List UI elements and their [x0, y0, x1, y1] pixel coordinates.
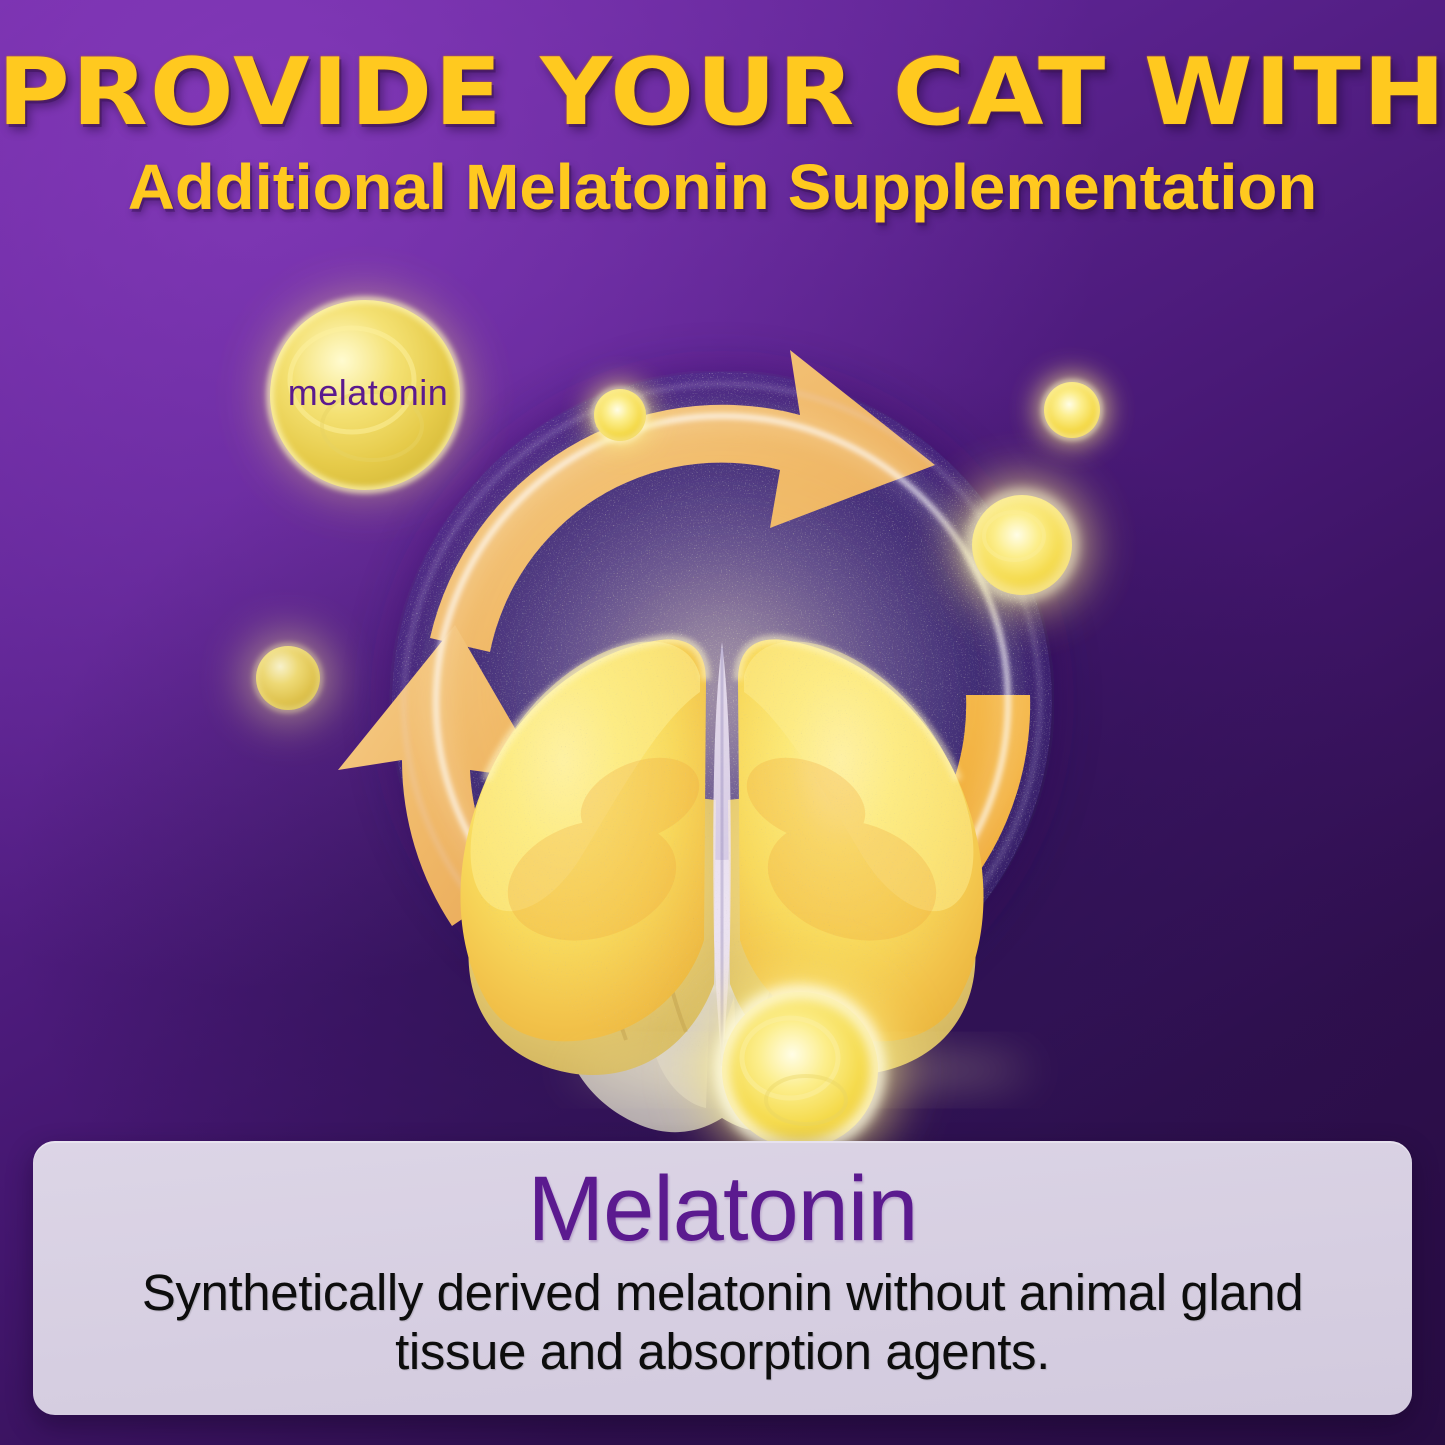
- molecule-label: melatonin: [268, 372, 468, 414]
- card-description-line-1: Synthetically derived melatonin without …: [108, 1263, 1338, 1322]
- card-description-line-2: tissue and absorption agents.: [108, 1322, 1338, 1381]
- illustration-stage: [0, 240, 1445, 1200]
- bubble-small-left: [234, 624, 342, 732]
- bubble-small-top: [578, 373, 662, 457]
- headline-block: PROVIDE YOUR CAT WITH Additional Melaton…: [0, 48, 1445, 219]
- page-title: PROVIDE YOUR CAT WITH: [0, 48, 1445, 137]
- bubble-small-top-right: [1026, 364, 1118, 456]
- info-card: Melatonin Synthetically derived melatoni…: [33, 1141, 1412, 1415]
- card-description: Synthetically derived melatonin without …: [108, 1263, 1338, 1381]
- bubble-medium-right: [940, 463, 1104, 627]
- page-subtitle: Additional Melatonin Supplementation: [0, 155, 1445, 219]
- card-title: Melatonin: [33, 1163, 1412, 1257]
- product-infographic: PROVIDE YOUR CAT WITH Additional Melaton…: [0, 0, 1445, 1445]
